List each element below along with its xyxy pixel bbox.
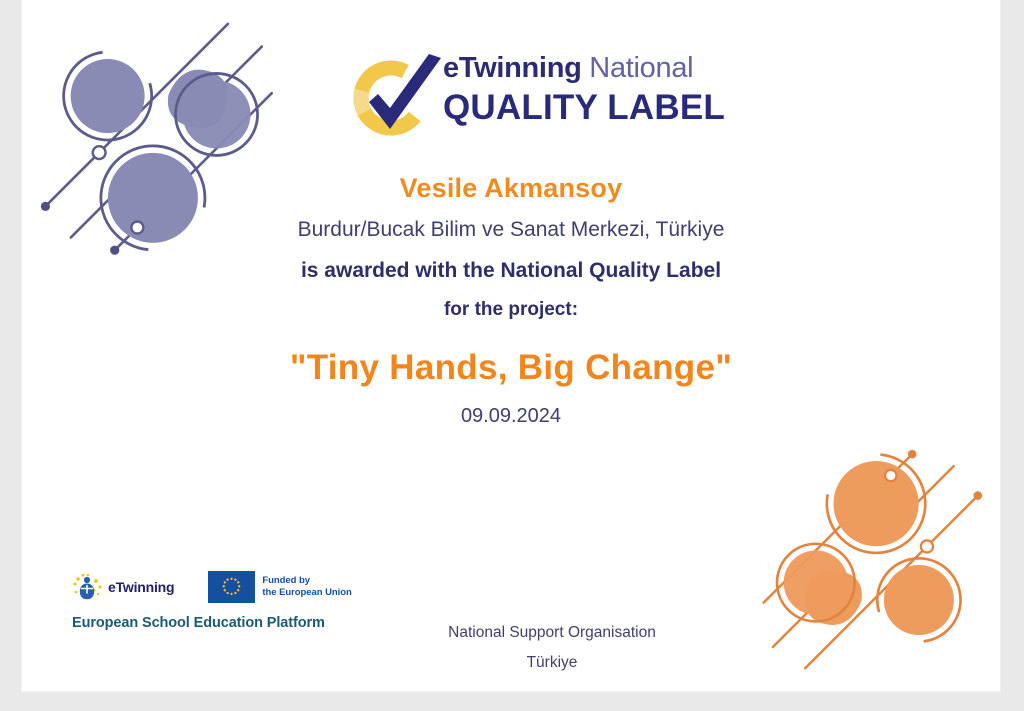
awarded-statement: is awarded with the National Quality Lab… <box>22 251 1000 291</box>
etwinning-wordmark: eTwinning <box>108 579 174 595</box>
quality-label-q-checkmark-icon <box>345 52 449 152</box>
award-date: 09.09.2024 <box>22 399 1000 433</box>
footer-logo-row: eTwinning <box>72 570 432 606</box>
eu-funding-line-two: the European Union <box>262 587 351 599</box>
national-quality-label-logo: eTwinning National QUALITY LABEL <box>345 48 725 156</box>
logo-national-word: National <box>589 52 693 84</box>
for-the-project-label: for the project: <box>22 291 1000 329</box>
eu-funding-text: Funded by the European Union <box>262 575 351 599</box>
awardee-name: Vesile Akmansoy <box>22 168 1000 208</box>
national-quality-label-wordmark: eTwinning National QUALITY LABEL <box>443 48 725 128</box>
etwinning-logo: eTwinning <box>72 570 174 604</box>
national-support-organisation: National Support Organisation Türkiye <box>352 618 752 678</box>
awardee-school: Burdur/Bucak Bilim ve Sanat Merkezi, Tür… <box>22 210 1000 250</box>
eu-funding-line-one: Funded by <box>262 575 351 587</box>
nso-line-one: National Support Organisation <box>352 618 752 648</box>
logo-line-one: eTwinning National <box>443 48 725 88</box>
screenshot-viewport: eTwinning National QUALITY LABEL Vesile … <box>0 0 1024 711</box>
nso-line-two: Türkiye <box>352 648 752 678</box>
decorative-circles-lines-orange <box>718 424 998 689</box>
logo-quality-label-word: QUALITY LABEL <box>443 88 725 128</box>
logo-etwinning-word: eTwinning <box>443 52 582 84</box>
project-title: "Tiny Hands, Big Change" <box>22 341 1000 395</box>
etwinning-figure-stars-icon <box>72 572 104 602</box>
european-union-flag-icon <box>208 571 255 603</box>
award-body: Vesile Akmansoy Burdur/Bucak Bilim ve Sa… <box>22 168 1000 433</box>
certificate-page: eTwinning National QUALITY LABEL Vesile … <box>22 0 1000 691</box>
eu-funding-logo: Funded by the European Union <box>208 570 351 604</box>
